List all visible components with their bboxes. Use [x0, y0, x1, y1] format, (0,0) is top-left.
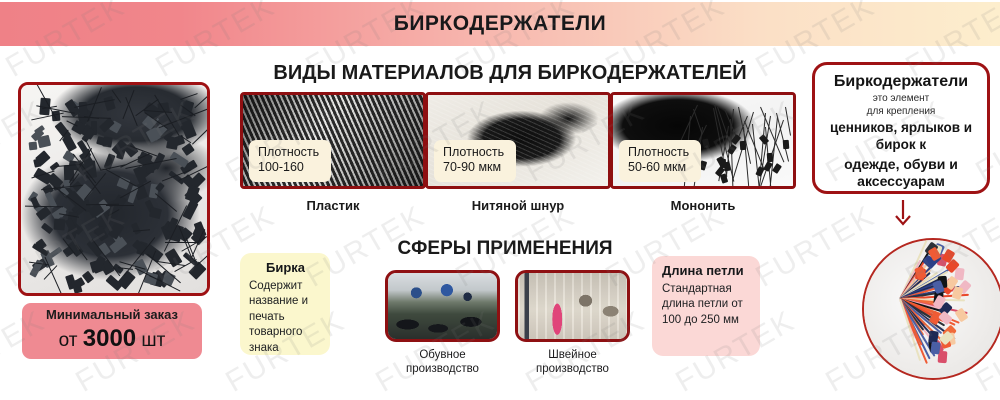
min-order-badge: Минимальный заказ от 3000 шт — [22, 303, 202, 359]
page-header: БИРКОДЕРЖАТЕЛИ — [0, 2, 1000, 46]
loop-length-text: Стандартная длина петли от 100 до 250 мм — [662, 282, 752, 329]
tag-info-box: Бирка Содержит название и печать товарно… — [240, 253, 330, 355]
page-title: БИРКОДЕРЖАТЕЛИ — [394, 12, 607, 36]
usage-photo-footwear-image — [388, 273, 497, 339]
density-badge-cord: Плотность 70-90 мкм — [434, 140, 516, 182]
min-order-label: Минимальный заказ — [46, 308, 178, 322]
material-card-cord: Плотность 70-90 мкм Нитяной шнур — [425, 92, 611, 213]
min-order-number: 3000 — [83, 325, 136, 352]
definition-line-7: аксессуарам — [823, 173, 979, 191]
density-label: Плотность — [628, 145, 689, 161]
usage-photo-sewing — [515, 270, 630, 342]
material-caption-plastic: Пластик — [240, 198, 426, 213]
usage-caption-sewing-line1: Швейное — [515, 348, 630, 362]
usage-photo-sewing-image — [518, 273, 627, 339]
loop-length-title: Длина петли — [662, 263, 752, 279]
density-label: Плотность — [443, 145, 504, 161]
tag-info-title: Бирка — [249, 260, 322, 276]
density-badge-plastic: Плотность 100-160 — [249, 140, 331, 182]
loop-length-info-box: Длина петли Стандартная длина петли от 1… — [652, 256, 760, 356]
main-product-photo-detail — [21, 85, 207, 293]
usage-card-footwear: Обувное производство — [385, 270, 500, 377]
material-caption-mono: Мононить — [610, 198, 796, 213]
usage-section-title: СФЕРЫ ПРИМЕНЕНИЯ — [370, 238, 640, 260]
usage-caption-footwear-line2: производство — [385, 362, 500, 376]
density-value: 50-60 мкм — [628, 160, 689, 176]
definition-line-1: Биркодержатели — [823, 73, 979, 91]
materials-section-title: ВИДЫ МАТЕРИАЛОВ ДЛЯ БИРКОДЕРЖАТЕЛЕЙ — [230, 62, 790, 85]
usage-caption-sewing-line2: производство — [515, 362, 630, 376]
definition-line-3: для крепления — [823, 106, 979, 119]
material-photo-cord: Плотность 70-90 мкм — [425, 92, 611, 189]
material-card-mono: Плотность 50-60 мкм Мононить — [610, 92, 796, 213]
usage-caption-footwear: Обувное производство — [385, 348, 500, 377]
min-order-prefix: от — [59, 330, 78, 351]
density-label: Плотность — [258, 145, 319, 161]
definition-line-6: одежде, обуви и — [823, 156, 979, 174]
material-card-plastic: Плотность 100-160 Пластик — [240, 92, 426, 213]
min-order-unit: шт — [141, 330, 165, 351]
material-caption-cord: Нитяной шнур — [425, 198, 611, 213]
definition-line-2: это элемент — [823, 93, 979, 106]
density-value: 100-160 — [258, 160, 319, 176]
definition-line-4: ценников, ярлыков и — [823, 120, 979, 136]
usage-photo-footwear — [385, 270, 500, 342]
infographic-page: БИРКОДЕРЖАТЕЛИ ВИДЫ МАТЕРИАЛОВ ДЛЯ БИРКО… — [0, 0, 1000, 400]
colored-fasteners-detail — [864, 240, 1000, 378]
main-product-photo — [18, 82, 210, 296]
arrow-down-icon — [893, 200, 913, 226]
colored-fasteners-circle-photo — [862, 238, 1000, 380]
definition-panel: Биркодержатели это элемент для крепления… — [812, 62, 990, 194]
usage-card-sewing: Швейное производство — [515, 270, 630, 377]
material-photo-plastic: Плотность 100-160 — [240, 92, 426, 189]
tag-info-text: Содержит название и печать товарного зна… — [249, 279, 322, 357]
min-order-amount: от 3000 шт — [59, 324, 166, 354]
definition-line-5: бирок к — [823, 137, 979, 153]
density-value: 70-90 мкм — [443, 160, 504, 176]
usage-caption-sewing: Швейное производство — [515, 348, 630, 377]
usage-caption-footwear-line1: Обувное — [385, 348, 500, 362]
material-photo-mono: Плотность 50-60 мкм — [610, 92, 796, 189]
density-badge-mono: Плотность 50-60 мкм — [619, 140, 701, 182]
